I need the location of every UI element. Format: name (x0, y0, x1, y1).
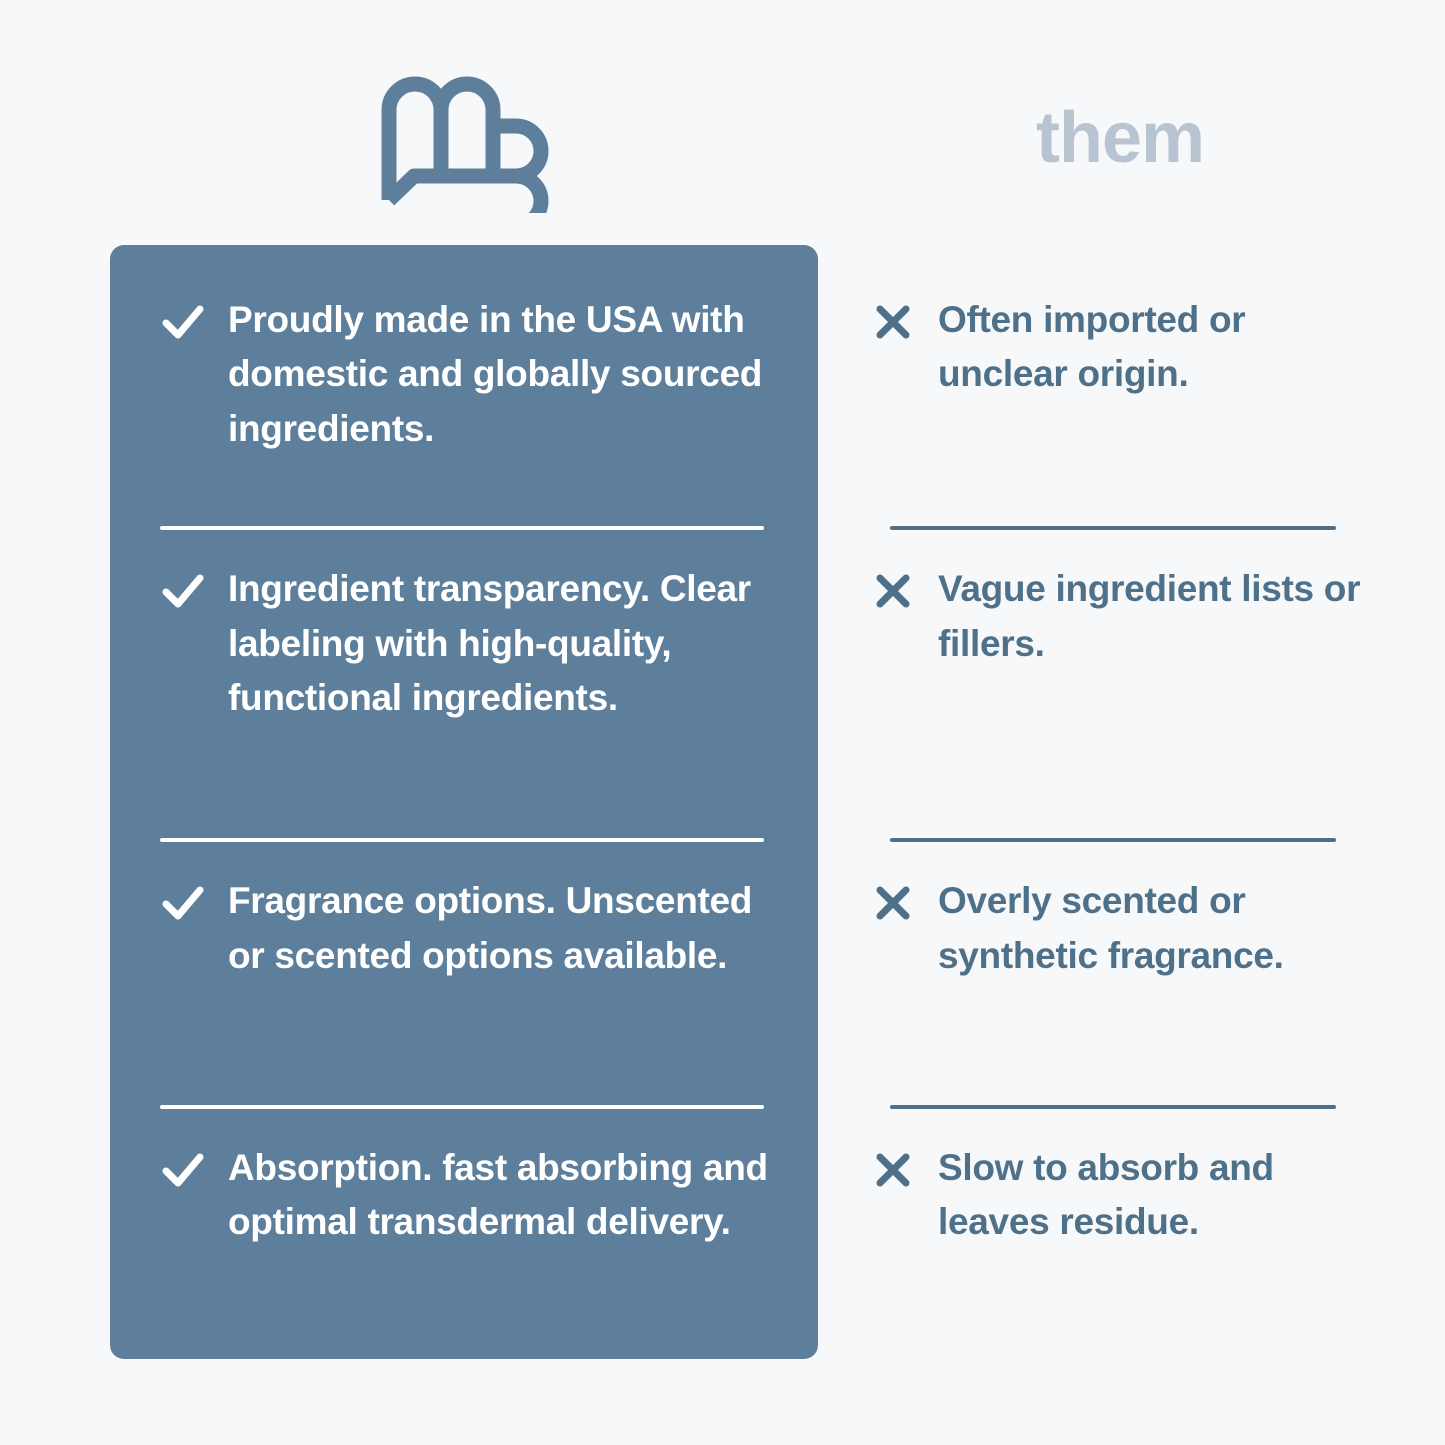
list-item: Fragrance options. Unscented or scented … (158, 874, 770, 983)
divider (160, 1105, 764, 1109)
x-icon (870, 299, 916, 345)
list-item: Often imported or unclear origin. (870, 293, 1370, 402)
list-item-label: Proudly made in the USA with domestic an… (228, 293, 770, 456)
header-row: them (0, 0, 1445, 245)
us-row-3: Fragrance options. Unscented or scented … (158, 874, 770, 1072)
divider (160, 838, 764, 842)
list-item: Absorption. fast absorbing and optimal t… (158, 1141, 770, 1250)
divider (890, 1105, 1336, 1109)
us-row-1: Proudly made in the USA with domestic an… (158, 293, 770, 494)
comparison-infographic: them Proudly made in the USA with domest… (0, 0, 1445, 1445)
x-icon (870, 880, 916, 926)
divider (160, 526, 764, 530)
us-row-4: Absorption. fast absorbing and optimal t… (158, 1141, 770, 1311)
them-header: them (870, 55, 1370, 220)
list-item: Vague ingredient lists or fillers. (870, 562, 1370, 671)
x-icon (870, 568, 916, 614)
check-icon (160, 880, 206, 926)
list-item-label: Ingredient transparency. Clear labeling … (228, 562, 770, 725)
list-item: Slow to absorb and leaves residue. (870, 1141, 1370, 1250)
mb-monogram-logo (376, 63, 552, 213)
divider (890, 838, 1336, 842)
list-item-label: Slow to absorb and leaves residue. (938, 1141, 1370, 1250)
list-item-label: Often imported or unclear origin. (938, 293, 1370, 402)
list-item-label: Absorption. fast absorbing and optimal t… (228, 1141, 770, 1250)
them-drawbacks-column: Often imported or unclear origin. Vague … (870, 245, 1370, 1359)
x-icon (870, 1147, 916, 1193)
divider (890, 526, 1336, 530)
list-item: Ingredient transparency. Clear labeling … (158, 562, 770, 725)
list-item-label: Overly scented or synthetic fragrance. (938, 874, 1370, 983)
us-benefits-card: Proudly made in the USA with domestic an… (110, 245, 818, 1359)
check-icon (160, 299, 206, 345)
them-row-1: Often imported or unclear origin. (870, 293, 1370, 494)
list-item: Overly scented or synthetic fragrance. (870, 874, 1370, 983)
them-label: them (1036, 102, 1204, 174)
list-item: Proudly made in the USA with domestic an… (158, 293, 770, 456)
us-row-2: Ingredient transparency. Clear labeling … (158, 562, 770, 806)
check-icon (160, 568, 206, 614)
them-row-2: Vague ingredient lists or fillers. (870, 562, 1370, 806)
list-item-label: Vague ingredient lists or fillers. (938, 562, 1370, 671)
them-row-4: Slow to absorb and leaves residue. (870, 1141, 1370, 1311)
them-row-3: Overly scented or synthetic fragrance. (870, 874, 1370, 1072)
brand-logo (110, 55, 818, 220)
list-item-label: Fragrance options. Unscented or scented … (228, 874, 770, 983)
check-icon (160, 1147, 206, 1193)
